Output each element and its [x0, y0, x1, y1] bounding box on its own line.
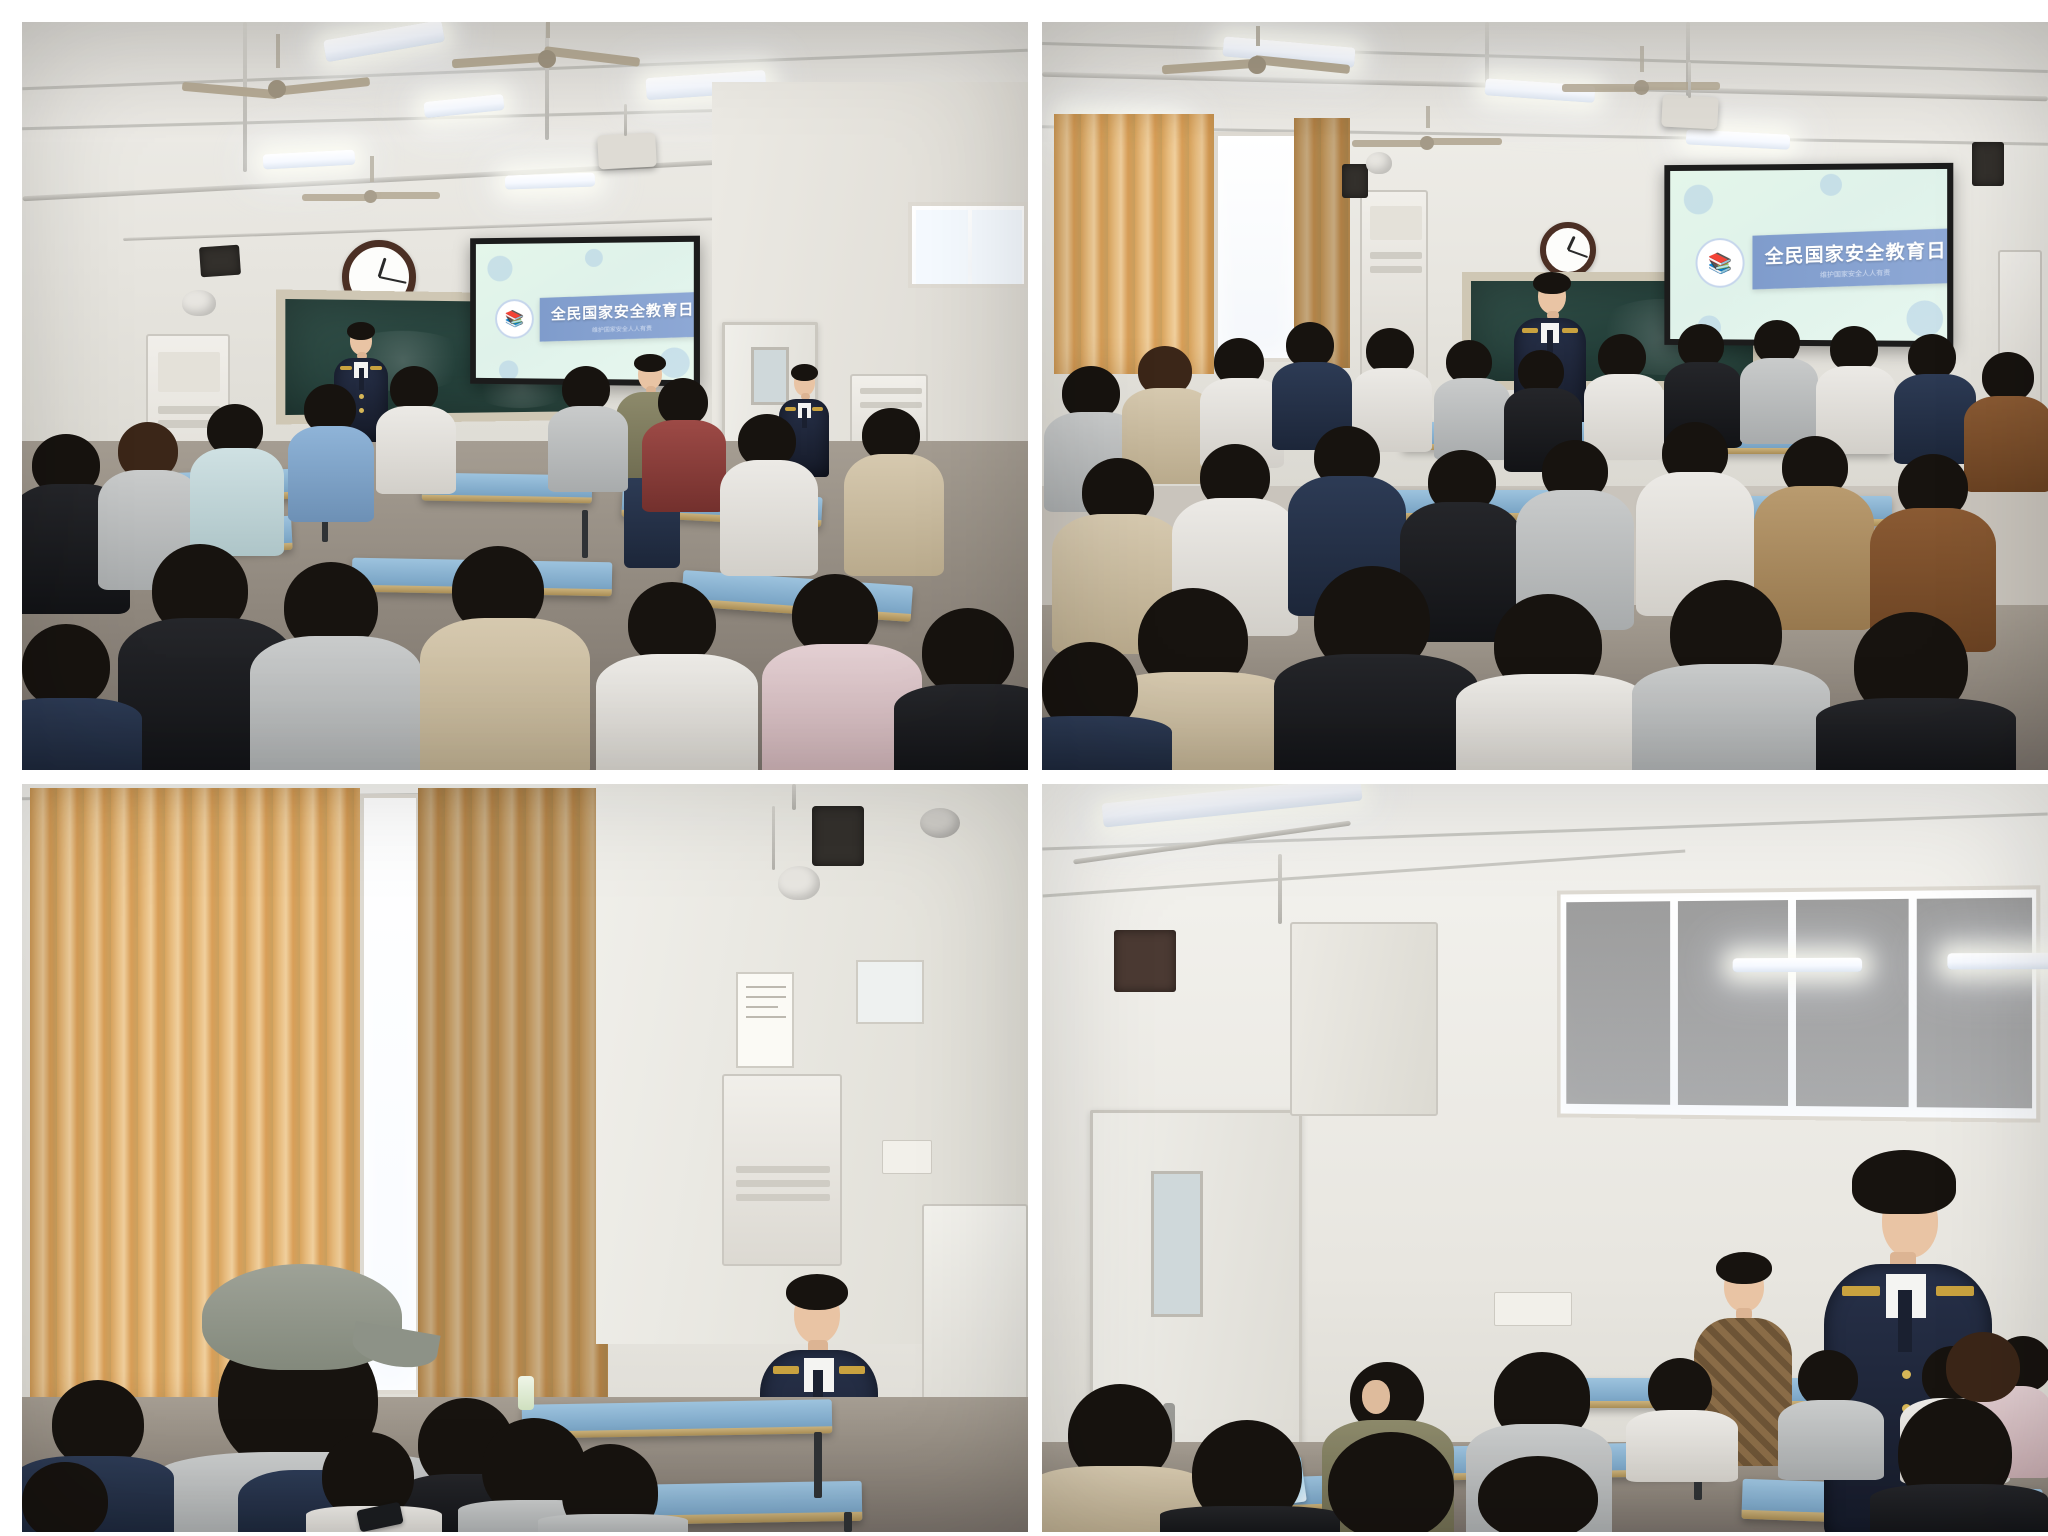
projector-mount [624, 104, 627, 136]
panel-top-right[interactable]: 📚 全民国家安全教育日 维护国家安全人人有责 [1042, 22, 2048, 770]
wall-conduit [792, 784, 796, 810]
wall-clock [1540, 222, 1596, 278]
education-emblem-icon: 📚 [495, 299, 534, 339]
wall-conduit [772, 806, 775, 870]
classroom-scene-3 [22, 784, 1028, 1532]
wall-speaker [1114, 930, 1176, 992]
wall-outlet[interactable] [1494, 1292, 1572, 1326]
wall-speaker [812, 806, 864, 866]
ceiling-projector [597, 133, 657, 170]
education-emblem-icon: 📚 [1696, 238, 1745, 288]
security-camera [1366, 152, 1392, 174]
classroom-window [1214, 132, 1298, 362]
desk-leg [844, 1512, 852, 1532]
ceiling-fan [182, 68, 372, 108]
slide-title-band: 全民国家安全教育日 维护国家安全人人有责 [540, 292, 700, 342]
ceiling-conduit [1485, 22, 1489, 84]
wall-speaker [1342, 164, 1368, 198]
slide-subtitle: 维护国家安全人人有责 [1820, 268, 1890, 280]
radiator-cabinet [722, 1074, 842, 1266]
security-camera [920, 808, 960, 838]
ceiling-projector [1661, 95, 1719, 130]
slide-subtitle: 维护国家安全人人有责 [592, 323, 652, 334]
wall-speaker [199, 245, 241, 278]
panel-bottom-left[interactable] [22, 784, 1028, 1532]
projector-screen: 📚 全民国家安全教育日 维护国家安全人人有责 [1664, 163, 1953, 347]
transom-windows [1557, 885, 2041, 1122]
wall-panel [1290, 922, 1438, 1116]
ceiling-fan [452, 36, 642, 76]
ceiling-fan [302, 182, 442, 210]
ceiling-fan [1162, 44, 1352, 84]
projector-mount [1688, 62, 1691, 98]
wall-notice-board [736, 972, 794, 1068]
desk-leg [814, 1432, 822, 1498]
transom-window [908, 202, 1028, 288]
desk-leg [582, 510, 588, 558]
panel-top-left[interactable]: 📚 全民国家安全教育日 维护国家安全人人有责 [22, 22, 1028, 770]
security-camera [182, 290, 216, 316]
classroom-scene-2: 📚 全民国家安全教育日 维护国家安全人人有责 [1042, 22, 2048, 770]
photo-collage: 📚 全民国家安全教育日 维护国家安全人人有责 [0, 0, 2048, 1536]
window-curtain [418, 788, 608, 1414]
classroom-scene-4 [1042, 784, 2048, 1532]
motion-sensor [778, 866, 820, 900]
wall-outlet[interactable] [882, 1140, 932, 1174]
slide-title: 全民国家安全教育日 [1765, 236, 1947, 270]
wall-frame [856, 960, 924, 1024]
window-curtain [1054, 114, 1214, 374]
panel-bottom-right[interactable] [1042, 784, 2048, 1532]
wall-speaker [1972, 142, 2004, 186]
slide-title: 全民国家安全教育日 [551, 298, 694, 324]
slide-title-band: 全民国家安全教育日 维护国家安全人人有责 [1752, 228, 1953, 289]
classroom-scene-1: 📚 全民国家安全教育日 维护国家安全人人有责 [22, 22, 1028, 770]
wall-conduit [1278, 854, 1282, 924]
water-bottle [518, 1376, 534, 1410]
